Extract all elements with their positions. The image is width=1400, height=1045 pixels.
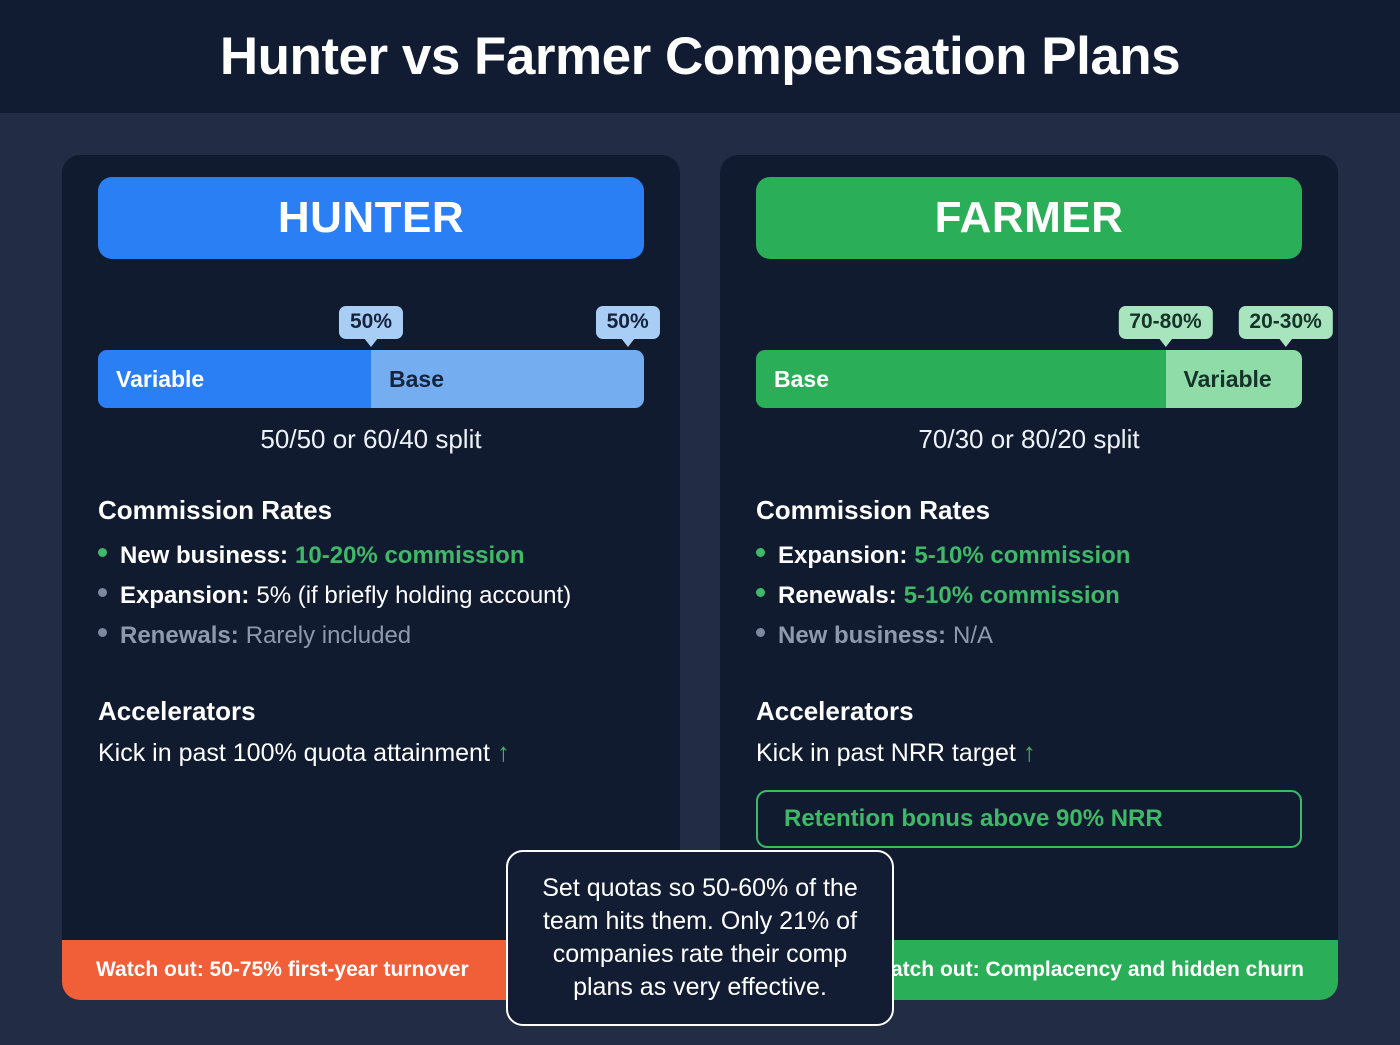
hunter-badge-row: 50% 50% xyxy=(98,303,644,339)
farmer-right-badge: 20-30% xyxy=(1238,306,1332,339)
farmer-commission-title: Commission Rates xyxy=(756,495,1302,526)
page-title: Hunter vs Farmer Compensation Plans xyxy=(220,26,1180,87)
hunter-accelerators-section: Accelerators Kick in past 100% quota att… xyxy=(98,696,644,768)
quota-callout: Set quotas so 50-60% of the team hits th… xyxy=(506,850,894,1026)
rate-label: Renewals: xyxy=(120,616,239,656)
farmer-base-label: Base xyxy=(774,366,829,393)
hunter-accelerators-text: Kick in past 100% quota attainment ↑ xyxy=(98,737,644,768)
hunter-right-badge: 50% xyxy=(596,306,660,339)
rate-label: New business: xyxy=(778,616,946,656)
bullet-icon xyxy=(756,628,765,637)
hunter-accelerators-copy: Kick in past 100% quota attainment xyxy=(98,739,490,767)
rate-value: 10-20% commission xyxy=(295,536,524,576)
rate-label: New business: xyxy=(120,536,288,576)
farmer-role-label: FARMER xyxy=(935,193,1124,243)
up-arrow-icon: ↑ xyxy=(1023,737,1036,767)
bullet-icon xyxy=(98,548,107,557)
bullet-icon xyxy=(98,588,107,597)
rate-label: Expansion: xyxy=(120,576,249,616)
farmer-card-body: FARMER 70-80% 20-30% Base Variable 70/30… xyxy=(720,155,1338,940)
hunter-commission-title: Commission Rates xyxy=(98,495,644,526)
farmer-variable-segment: Variable xyxy=(1166,350,1303,408)
hunter-split-bar: Variable Base xyxy=(98,350,644,408)
farmer-role-banner: FARMER xyxy=(756,177,1302,259)
list-item: New business: N/A xyxy=(756,616,1302,656)
hunter-accelerators-title: Accelerators xyxy=(98,696,644,727)
hunter-variable-segment: Variable xyxy=(98,350,371,408)
list-item: New business: 10-20% commission xyxy=(98,536,644,576)
hunter-commission-section: Commission Rates New business: 10-20% co… xyxy=(98,495,644,656)
farmer-accelerators-title: Accelerators xyxy=(756,696,1302,727)
rate-value: N/A xyxy=(953,616,993,656)
farmer-accelerators-copy: Kick in past NRR target xyxy=(756,739,1016,767)
list-item: Expansion: 5% (if briefly holding accoun… xyxy=(98,576,644,616)
hunter-base-label: Base xyxy=(389,366,444,393)
retention-bonus-pill: Retention bonus above 90% NRR xyxy=(756,790,1302,848)
farmer-accelerators-text: Kick in past NRR target ↑ xyxy=(756,737,1302,768)
list-item: Renewals: Rarely included xyxy=(98,616,644,656)
hunter-split-note: 50/50 or 60/40 split xyxy=(98,424,644,455)
farmer-split-note: 70/30 or 80/20 split xyxy=(756,424,1302,455)
hunter-role-label: HUNTER xyxy=(278,193,464,243)
hunter-left-badge: 50% xyxy=(339,306,403,339)
hunter-rate-list: New business: 10-20% commission Expansio… xyxy=(98,536,644,656)
rate-value: Rarely included xyxy=(246,616,411,656)
bullet-icon xyxy=(756,548,765,557)
farmer-left-badge: 70-80% xyxy=(1118,306,1212,339)
rate-value: 5-10% commission xyxy=(914,536,1130,576)
hunter-split-chart: 50% 50% Variable Base 50/50 or 60/40 spl… xyxy=(98,303,644,455)
rate-value: 5-10% commission xyxy=(904,576,1120,616)
list-item: Expansion: 5-10% commission xyxy=(756,536,1302,576)
rate-label: Expansion: xyxy=(778,536,907,576)
rate-value: 5% (if briefly holding account) xyxy=(256,576,571,616)
list-item: Renewals: 5-10% commission xyxy=(756,576,1302,616)
bullet-icon xyxy=(98,628,107,637)
farmer-variable-label: Variable xyxy=(1184,366,1272,393)
hunter-card-body: HUNTER 50% 50% Variable Base 50/50 or 60… xyxy=(62,155,680,940)
hunter-variable-label: Variable xyxy=(116,366,204,393)
rate-label: Renewals: xyxy=(778,576,897,616)
farmer-split-chart: 70-80% 20-30% Base Variable 70/30 or 80/… xyxy=(756,303,1302,455)
hunter-warning-text: Watch out: 50-75% first-year turnover xyxy=(96,958,469,982)
farmer-commission-section: Commission Rates Expansion: 5-10% commis… xyxy=(756,495,1302,656)
quota-callout-text: Set quotas so 50-60% of the team hits th… xyxy=(542,874,858,1001)
hunter-base-segment: Base xyxy=(371,350,644,408)
farmer-rate-list: Expansion: 5-10% commission Renewals: 5-… xyxy=(756,536,1302,656)
bullet-icon xyxy=(756,588,765,597)
farmer-warning-text: Watch out: Complacency and hidden churn xyxy=(872,958,1304,982)
page-header: Hunter vs Farmer Compensation Plans xyxy=(0,0,1400,113)
farmer-split-bar: Base Variable xyxy=(756,350,1302,408)
hunter-role-banner: HUNTER xyxy=(98,177,644,259)
farmer-badge-row: 70-80% 20-30% xyxy=(756,303,1302,339)
farmer-accelerators-section: Accelerators Kick in past NRR target ↑ R… xyxy=(756,696,1302,848)
up-arrow-icon: ↑ xyxy=(497,737,510,767)
farmer-base-segment: Base xyxy=(756,350,1166,408)
